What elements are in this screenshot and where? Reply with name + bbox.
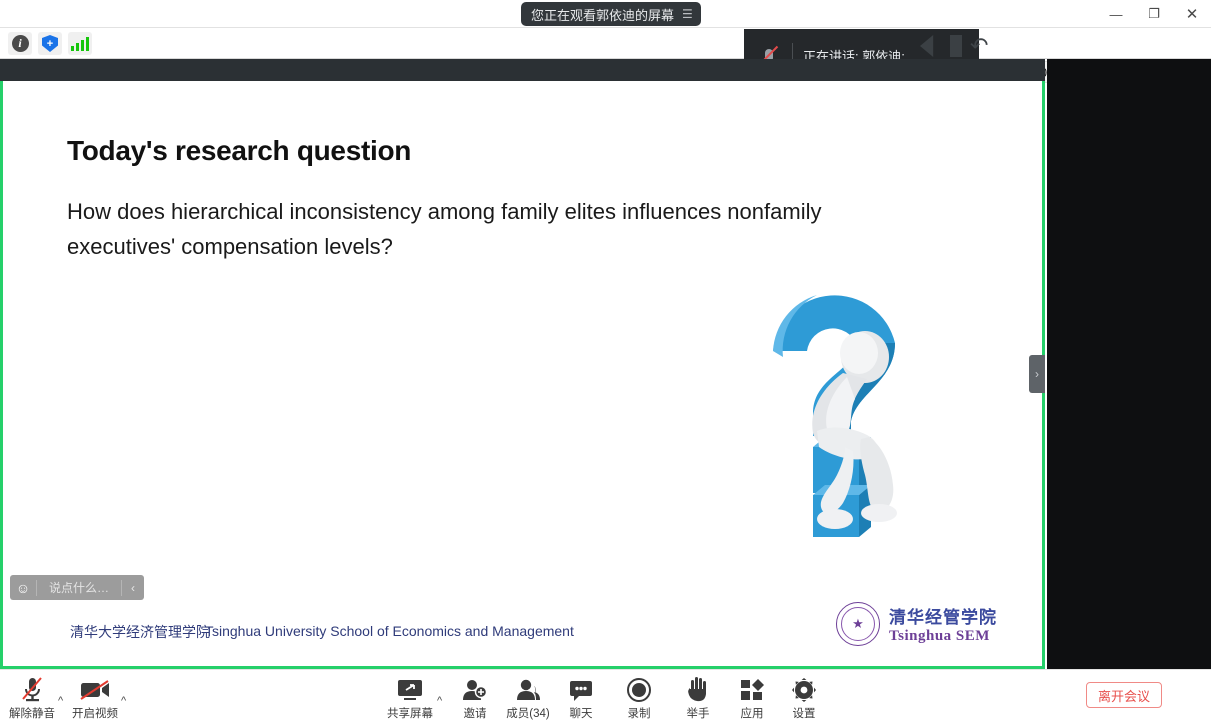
toolbar-label-record: 录制 xyxy=(628,705,651,721)
restore-button[interactable]: ❐ xyxy=(1135,0,1173,28)
meeting-toolbar: 解除静音 ^ 开启视频 ^ 共享屏幕 xyxy=(0,669,1211,723)
logo-label-cn: 清华经管学院 xyxy=(889,603,997,628)
toolbar-mute-button[interactable]: 解除静音 xyxy=(0,674,64,721)
annotation-divider-icon xyxy=(950,35,962,57)
status-icon-group: i + xyxy=(8,32,92,55)
toolbar-label-video: 开启视频 xyxy=(72,705,118,721)
tsinghua-sem-logo: ★ 清华经管学院 Tsinghua SEM xyxy=(836,602,997,646)
question-mark-thinker-illustration xyxy=(747,281,937,541)
leave-meeting-button[interactable]: 离开会议 xyxy=(1086,682,1162,708)
toolbar-chat-button[interactable]: 聊天 xyxy=(549,674,613,721)
apps-icon xyxy=(739,674,765,702)
panel-collapse-button[interactable]: › xyxy=(1029,355,1045,393)
settings-gear-icon xyxy=(792,674,816,702)
quick-chat-bar[interactable]: ☺ 说点什么… ‹ xyxy=(10,575,144,600)
toolbar-label-apps: 应用 xyxy=(741,705,764,721)
slide-footer-cn: 清华大学经济管理学院 xyxy=(70,622,210,642)
emoji-icon[interactable]: ☺ xyxy=(10,580,36,596)
zoom-meeting-window: 您正在观看郭依迪的屏幕 ☰ — ❐ ✕ i + 01:17:09 xyxy=(0,0,1211,723)
slide-body-text: How does hierarchical inconsistency amon… xyxy=(67,194,897,264)
presentation-slide: Today's research question How does hiera… xyxy=(57,81,1042,666)
chat-icon xyxy=(568,674,594,702)
shared-screen-top-band xyxy=(0,59,1045,81)
hamburger-icon[interactable]: ☰ xyxy=(682,7,693,21)
logo-label-en: Tsinghua SEM xyxy=(889,628,997,645)
video-options-caret[interactable]: ^ xyxy=(121,695,126,707)
toolbar-record-button[interactable]: 录制 xyxy=(607,674,671,721)
info-icon[interactable]: i xyxy=(8,32,32,55)
window-title-bar: 您正在观看郭依迪的屏幕 ☰ — ❐ ✕ xyxy=(0,0,1211,28)
watching-screen-banner[interactable]: 您正在观看郭依迪的屏幕 ☰ xyxy=(521,2,701,26)
participants-icon xyxy=(515,674,541,702)
page-title: Today's research question xyxy=(67,135,411,167)
toolbar-label-invite: 邀请 xyxy=(464,705,487,721)
toolbar-share-screen-button[interactable]: 共享屏幕 xyxy=(378,674,442,721)
security-shield-icon[interactable]: + xyxy=(38,32,62,55)
toolbar-label-chat: 聊天 xyxy=(570,705,593,721)
toolbar-video-button[interactable]: 开启视频 xyxy=(63,674,127,721)
slide-footer-en: Tsinghua University School of Economics … xyxy=(205,623,574,639)
mic-muted-icon xyxy=(20,674,44,702)
watching-screen-label: 您正在观看郭依迪的屏幕 xyxy=(531,5,674,24)
meeting-status-bar: i + 01:17:09 演讲者视图 ▾ xyxy=(0,28,1211,59)
chat-input[interactable]: 说点什么… xyxy=(37,579,121,596)
annotation-tool-icon[interactable] xyxy=(920,35,944,57)
chat-collapse-icon[interactable]: ‹ xyxy=(122,581,144,595)
toolbar-label-settings: 设置 xyxy=(793,705,816,721)
toolbar-label-participants: 成员(34) xyxy=(506,705,549,721)
toolbar-label-raise-hand: 举手 xyxy=(687,705,710,721)
camera-off-icon xyxy=(79,674,111,702)
close-button[interactable]: ✕ xyxy=(1173,0,1211,28)
minimize-button[interactable]: — xyxy=(1097,0,1135,28)
raise-hand-icon xyxy=(686,674,710,702)
annotation-controls: ↶ xyxy=(920,33,988,59)
tsinghua-seal-icon: ★ xyxy=(836,602,880,646)
record-icon xyxy=(626,674,652,702)
share-screen-icon xyxy=(397,674,423,702)
toolbar-label-share: 共享屏幕 xyxy=(387,705,433,721)
undo-arrow-icon[interactable]: ↶ xyxy=(970,33,988,59)
network-signal-icon[interactable] xyxy=(68,32,92,55)
participant-strip: 郭依迪 牟善栋 xyxy=(1047,59,1211,669)
invite-icon xyxy=(462,674,488,702)
toolbar-settings-button[interactable]: 设置 xyxy=(772,674,836,721)
toolbar-label-mute: 解除静音 xyxy=(9,705,55,721)
share-options-caret[interactable]: ^ xyxy=(437,695,442,707)
window-controls: — ❐ ✕ xyxy=(1097,0,1211,28)
